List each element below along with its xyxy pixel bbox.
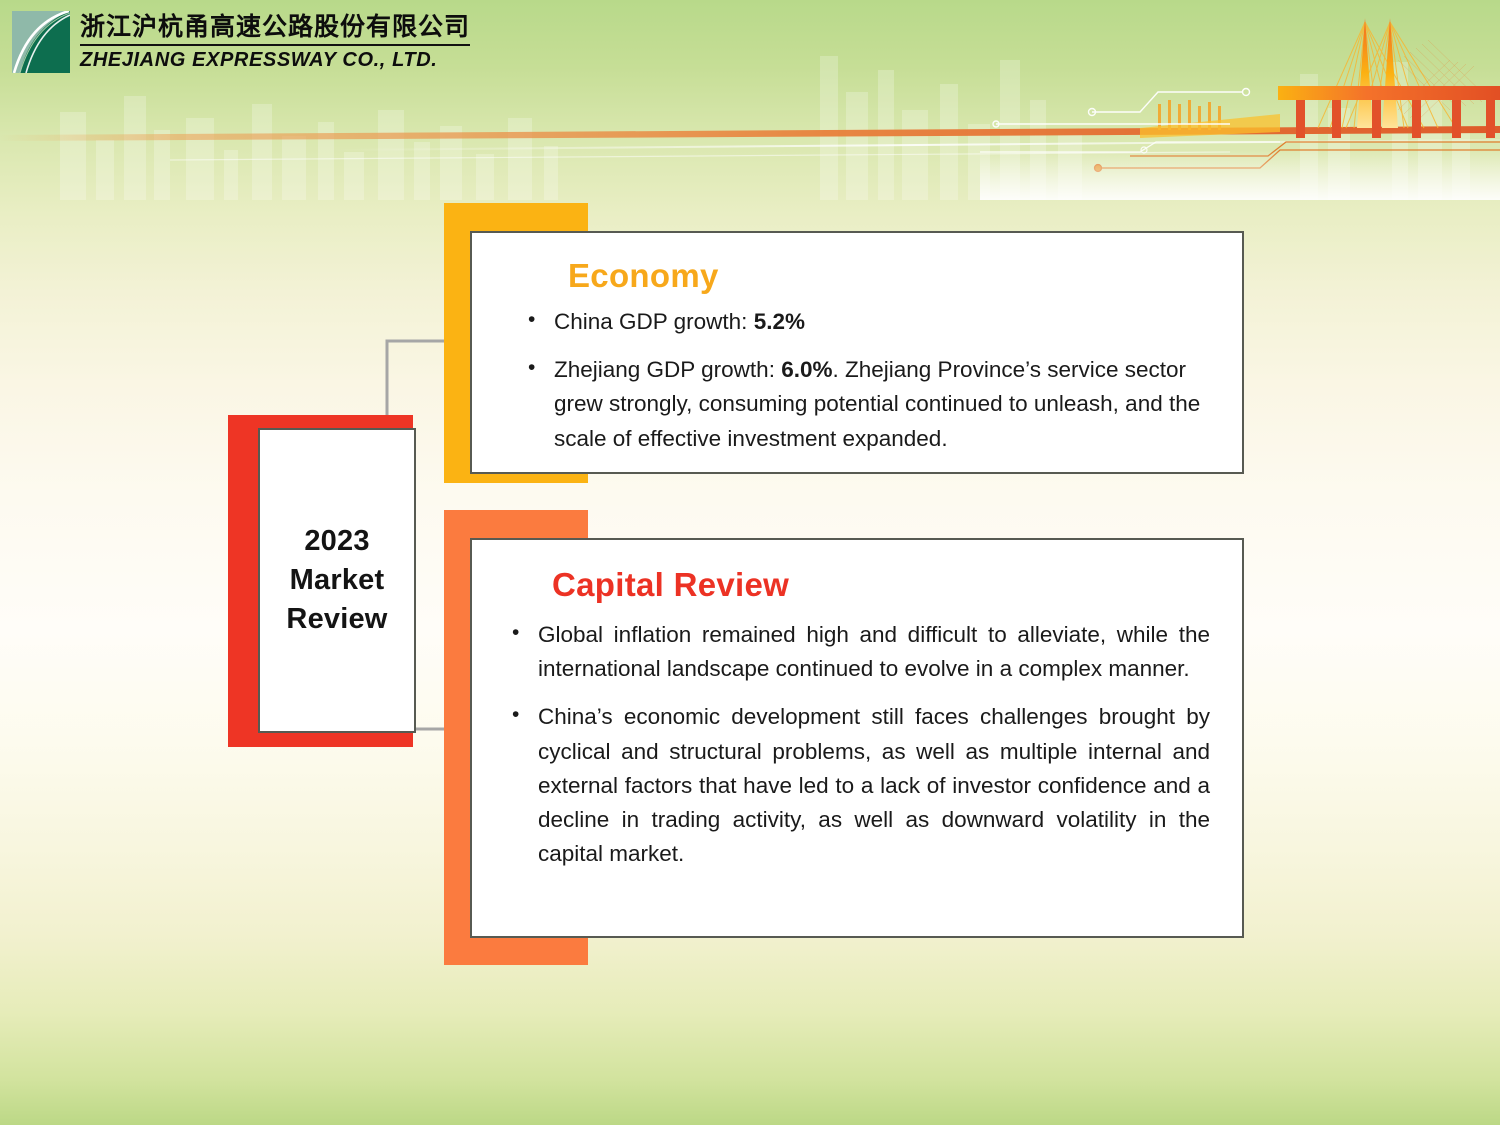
- economy-bullet-list: China GDP growth: 5.2% Zhejiang GDP grow…: [520, 305, 1208, 456]
- bullet-lead-text: Zhejiang GDP growth:: [554, 357, 781, 382]
- hub-label: 2023 Market Review: [286, 522, 387, 639]
- zhejiang-expressway-logo-mark: [12, 11, 70, 73]
- list-item: China’s economic development still faces…: [500, 700, 1210, 871]
- logo-wordmark: 浙江沪杭甬高速公路股份有限公司 ZHEJIANG EXPRESSWAY CO.,…: [80, 13, 470, 71]
- hub-card-2023-market-review[interactable]: 2023 Market Review: [258, 428, 416, 733]
- economy-panel-title: Economy: [568, 257, 1208, 295]
- cable-stayed-bridge-illustration: [980, 0, 1500, 200]
- bullet-emphasis-value: 5.2%: [754, 309, 805, 334]
- hub-label-line-1: 2023: [286, 522, 387, 561]
- capital-review-bullet-list: Global inflation remained high and diffi…: [500, 618, 1210, 871]
- company-logo: 浙江沪杭甬高速公路股份有限公司 ZHEJIANG EXPRESSWAY CO.,…: [12, 11, 470, 73]
- list-item: China GDP growth: 5.2%: [520, 305, 1208, 339]
- bullet-lead-text: China’s economic development still faces…: [538, 704, 1210, 866]
- hub-label-line-2: Market: [286, 561, 387, 600]
- economy-panel[interactable]: Economy China GDP growth: 5.2% Zhejiang …: [470, 231, 1244, 474]
- logo-company-name-cn: 浙江沪杭甬高速公路股份有限公司: [80, 13, 470, 42]
- list-item: Zhejiang GDP growth: 6.0%. Zhejiang Prov…: [520, 353, 1208, 456]
- logo-company-name-en: ZHEJIANG EXPRESSWAY CO., LTD.: [80, 49, 470, 71]
- slide-canvas: 浙江沪杭甬高速公路股份有限公司 ZHEJIANG EXPRESSWAY CO.,…: [0, 0, 1500, 1125]
- bullet-lead-text: China GDP growth:: [554, 309, 754, 334]
- bullet-emphasis-value: 6.0%: [781, 357, 832, 382]
- list-item: Global inflation remained high and diffi…: [500, 618, 1210, 686]
- logo-divider: [80, 44, 470, 46]
- capital-review-panel-title: Capital Review: [552, 566, 1210, 604]
- capital-review-panel[interactable]: Capital Review Global inflation remained…: [470, 538, 1244, 938]
- bullet-lead-text: Global inflation remained high and diffi…: [538, 622, 1210, 681]
- hub-label-line-3: Review: [286, 600, 387, 639]
